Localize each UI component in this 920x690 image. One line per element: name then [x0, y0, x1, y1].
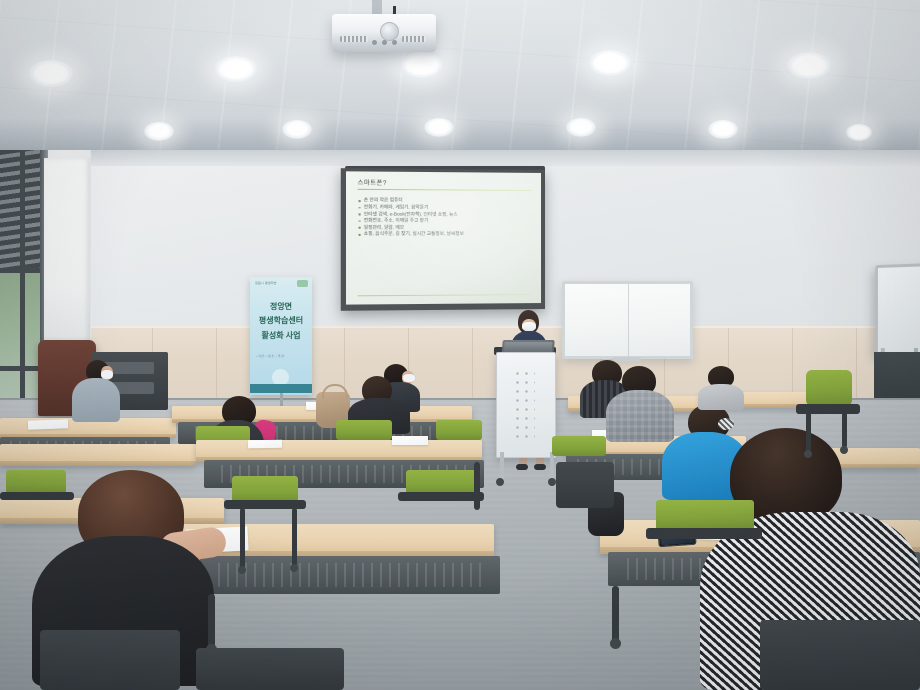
chair-leg [240, 508, 245, 568]
podium-leg [550, 452, 554, 480]
podium-caster [548, 478, 556, 486]
projector-lens [380, 22, 399, 41]
ceiling-light [846, 124, 872, 141]
chair-caster [840, 446, 848, 454]
podium-caster [496, 478, 504, 486]
instructor-shoe [534, 464, 546, 470]
instructor-shoe [516, 464, 528, 470]
chair [40, 630, 180, 690]
podium-leg [500, 452, 504, 480]
banner-subtext: ○ 기 간 : ○ 장 소 : ○ 주 관 : [256, 355, 285, 359]
event-banner: 정읍시 평생학습 정앙면 평생학습센터 활성화 사업 ○ 기 간 : ○ 장 소… [250, 277, 312, 395]
banner-line-1: 정앙면 [250, 301, 312, 312]
window-roller-shade [44, 158, 90, 344]
whiteboard-marker-tray [613, 357, 641, 362]
handbag-strap [322, 384, 348, 399]
projector-button [372, 40, 377, 45]
wall-whiteboard [562, 281, 693, 359]
desk-modesty-panel [200, 556, 500, 594]
ceiling-light [28, 60, 74, 88]
chair-leg [806, 412, 811, 452]
student-body [698, 384, 744, 410]
projector-vent [340, 36, 368, 42]
chair-frame [646, 528, 762, 539]
banner-logo [297, 280, 308, 287]
slide-bullet-list: 손 안의 작은 컴퓨터 전화기, 카메라, 게임기, 음악듣기 인터넷 검색, … [357, 197, 532, 238]
chair [556, 462, 614, 508]
banner-header: 정읍시 평생학습 [255, 281, 277, 285]
desk-leg [208, 594, 215, 648]
projector-vent [402, 36, 426, 42]
projector-button [392, 40, 397, 45]
banner-line-3: 활성화 사업 [250, 330, 312, 341]
banner-line-2: 평생학습센터 [250, 315, 312, 326]
ceiling-light [708, 120, 738, 139]
chair-caster [804, 450, 812, 458]
paper-handout [28, 419, 68, 429]
chair [760, 620, 920, 690]
chair [6, 470, 66, 494]
projector-button [382, 40, 387, 45]
chair [336, 420, 392, 440]
chair [552, 436, 606, 456]
desk-leg [612, 586, 619, 642]
chair-leg [292, 508, 297, 566]
desk-caster [610, 638, 621, 649]
banner-footer-bar [250, 384, 312, 393]
mobile-podium-board [496, 352, 556, 458]
desk [0, 444, 196, 466]
ceiling-projector [332, 14, 436, 52]
chair-leg [842, 412, 847, 448]
ceiling-light [588, 50, 632, 77]
ceiling-light [424, 118, 454, 137]
student-body [72, 378, 120, 422]
chair [436, 420, 482, 440]
ceiling-light [214, 56, 258, 83]
chair-caster [238, 566, 246, 574]
ceiling-light [566, 118, 596, 137]
face-mask [403, 374, 415, 382]
chair [806, 370, 852, 406]
slide-bullet: 쇼핑, 음식주문, 길 찾기, 실시간 교통정보, 날씨정보 [357, 231, 532, 238]
whiteboard-seam [628, 284, 629, 356]
ceiling-light [786, 52, 832, 80]
ceiling-light [144, 122, 174, 141]
chair-frame [398, 492, 484, 501]
chair [232, 476, 298, 502]
slide-title-rule [357, 189, 532, 191]
chair-frame [0, 492, 74, 500]
ceiling-light [400, 52, 444, 79]
desk-leg [474, 462, 480, 510]
wall-soffit [88, 150, 920, 166]
paper-handout [248, 440, 282, 449]
desk [196, 440, 482, 462]
paper-handout [392, 436, 428, 445]
ceiling-light [282, 120, 312, 139]
classroom-photo: 스마트폰? 손 안의 작은 컴퓨터 전화기, 카메라, 게임기, 음악듣기 인터… [0, 0, 920, 690]
chair [196, 648, 344, 690]
face-mask [522, 322, 536, 331]
chair [406, 470, 476, 494]
mobile-whiteboard [875, 263, 920, 357]
student-body [606, 390, 674, 442]
projection-screen: 스마트폰? 손 안의 작은 컴퓨터 전화기, 카메라, 게임기, 음악듣기 인터… [341, 168, 545, 311]
hair-clip [718, 418, 734, 430]
podium-perforations [513, 369, 535, 441]
chair [656, 500, 754, 530]
presentation-slide: 스마트폰? 손 안의 작은 컴퓨터 전화기, 카메라, 게임기, 음악듣기 인터… [346, 171, 541, 304]
desk-caster [206, 644, 217, 655]
chair-caster [290, 564, 298, 572]
